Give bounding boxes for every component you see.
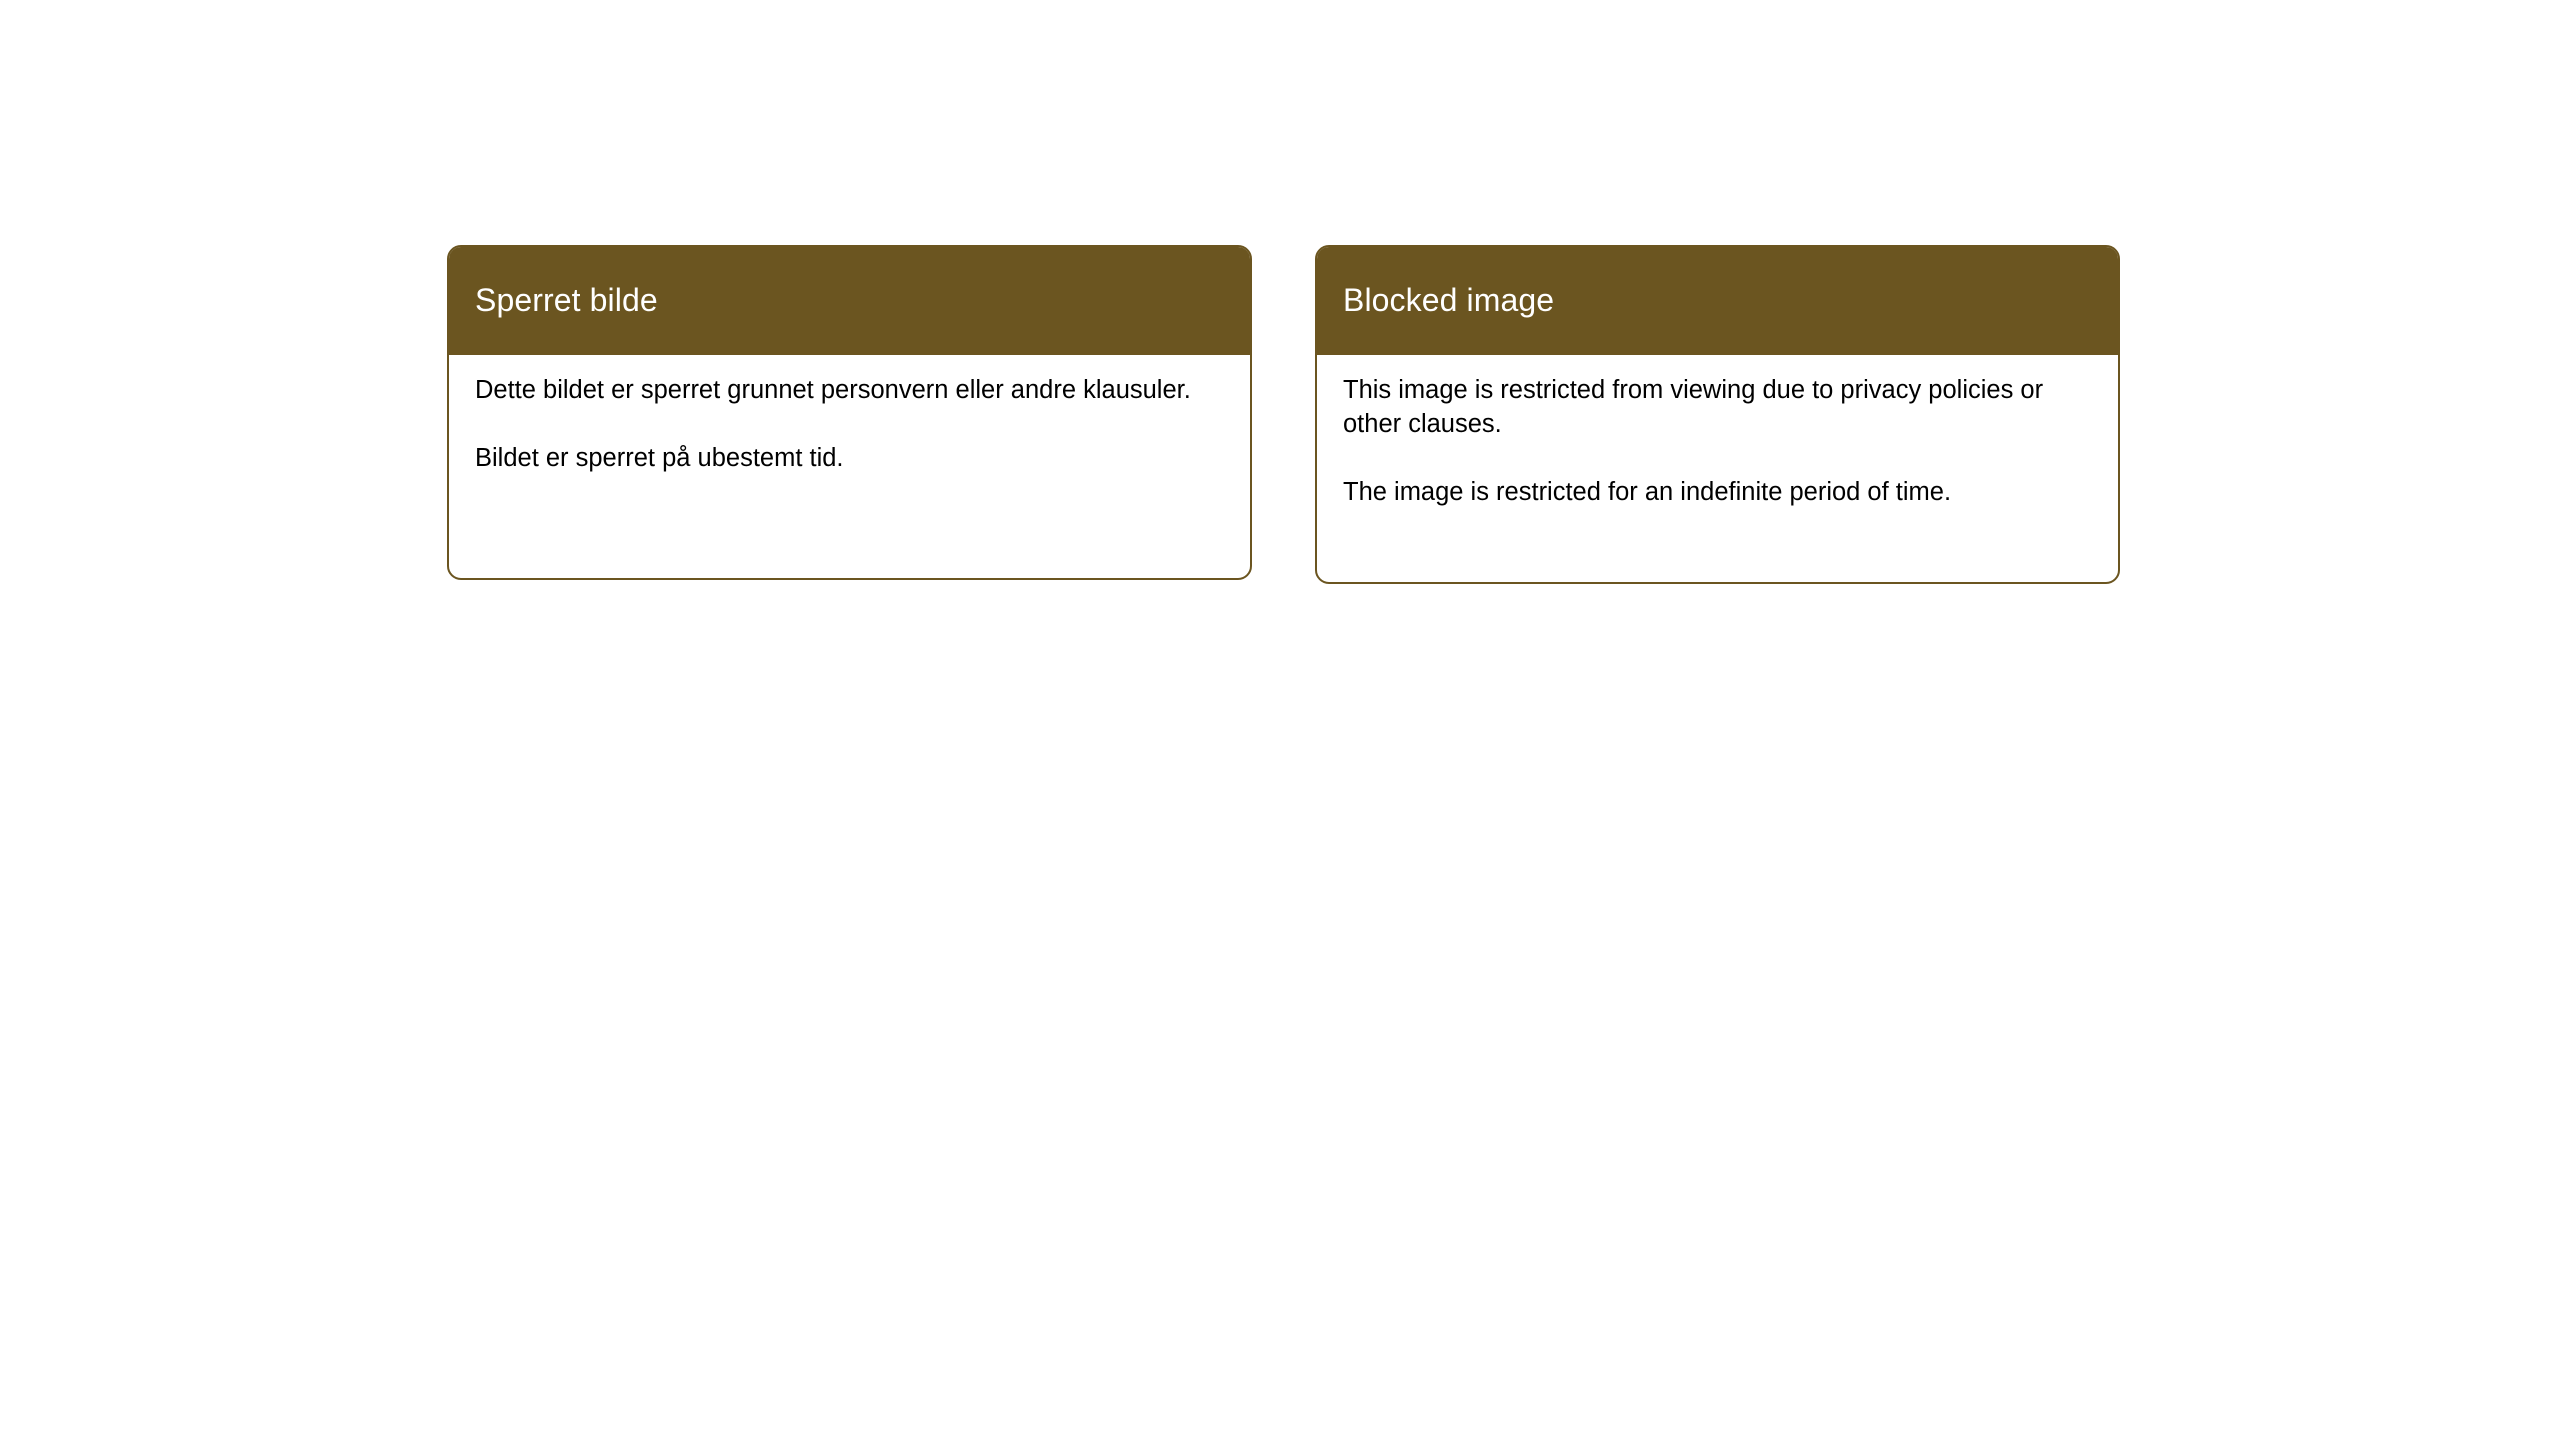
card-header-english: Blocked image [1317,247,2118,355]
card-title-english: Blocked image [1343,279,1554,321]
blocked-image-card-english: Blocked image This image is restricted f… [1315,245,2120,584]
card-body-norwegian: Dette bildet er sperret grunnet personve… [449,355,1250,578]
card-header-norwegian: Sperret bilde [449,247,1250,355]
card-paragraph-english-1: This image is restricted from viewing du… [1343,373,2092,441]
card-body-english: This image is restricted from viewing du… [1317,355,2118,582]
card-paragraph-english-2: The image is restricted for an indefinit… [1343,475,2092,509]
blocked-image-card-norwegian: Sperret bilde Dette bildet er sperret gr… [447,245,1252,580]
card-paragraph-norwegian-1: Dette bildet er sperret grunnet personve… [475,373,1224,407]
card-paragraph-norwegian-2: Bildet er sperret på ubestemt tid. [475,441,1224,475]
card-title-norwegian: Sperret bilde [475,279,658,321]
blocked-image-notice-container: Sperret bilde Dette bildet er sperret gr… [447,245,2120,584]
